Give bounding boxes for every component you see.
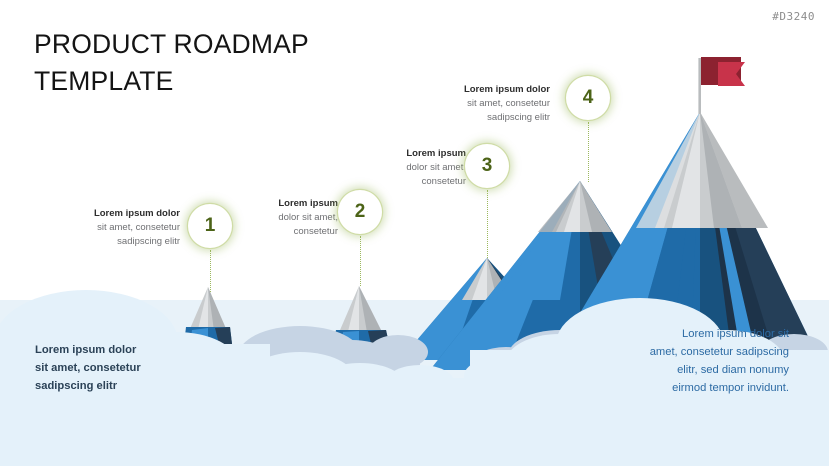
roadmap-slide: #D3240 PRODUCT ROADMAP TEMPLATE Lorem ip… <box>0 0 829 466</box>
milestone-3-body: dolor sit amet, consetetur <box>376 161 466 189</box>
bottom-right-copy: Lorem ipsum dolor sit amet, consetetur s… <box>549 325 789 398</box>
milestone-2-label: Lorem ipsum dolor sit amet, consetetur <box>248 197 338 238</box>
milestone-2-number: 2 <box>355 201 366 223</box>
milestone-2-circle[interactable]: 2 <box>338 190 382 234</box>
page-title: PRODUCT ROADMAP TEMPLATE <box>34 26 464 99</box>
milestone-1-label: Lorem ipsum dolor sit amet, consetetur s… <box>76 207 180 248</box>
milestone-4-connector <box>588 122 589 182</box>
milestone-1-heading: Lorem ipsum dolor <box>76 207 180 221</box>
milestone-3-label: Lorem ipsum dolor sit amet, consetetur <box>376 147 466 188</box>
milestone-3-circle[interactable]: 3 <box>465 144 509 188</box>
milestone-2-connector <box>360 236 361 286</box>
milestone-4-body: sit amet, consetetur sadipscing elitr <box>446 97 550 125</box>
milestone-4-number: 4 <box>583 87 594 109</box>
milestone-3-connector <box>487 190 488 258</box>
milestone-1-body: sit amet, consetetur sadipscing elitr <box>76 221 180 249</box>
milestone-2-heading: Lorem ipsum <box>248 197 338 211</box>
milestone-2-body: dolor sit amet, consetetur <box>248 211 338 239</box>
document-code: #D3240 <box>772 10 815 23</box>
milestone-3-number: 3 <box>482 155 493 177</box>
milestone-3-heading: Lorem ipsum <box>376 147 466 161</box>
milestone-1-connector <box>210 250 211 292</box>
milestone-1-circle[interactable]: 1 <box>188 204 232 248</box>
bottom-left-copy: Lorem ipsum dolor sit amet, consetetur s… <box>35 341 250 395</box>
milestone-1-number: 1 <box>205 215 216 237</box>
milestone-4-circle[interactable]: 4 <box>566 76 610 120</box>
flag-icon <box>698 57 745 114</box>
